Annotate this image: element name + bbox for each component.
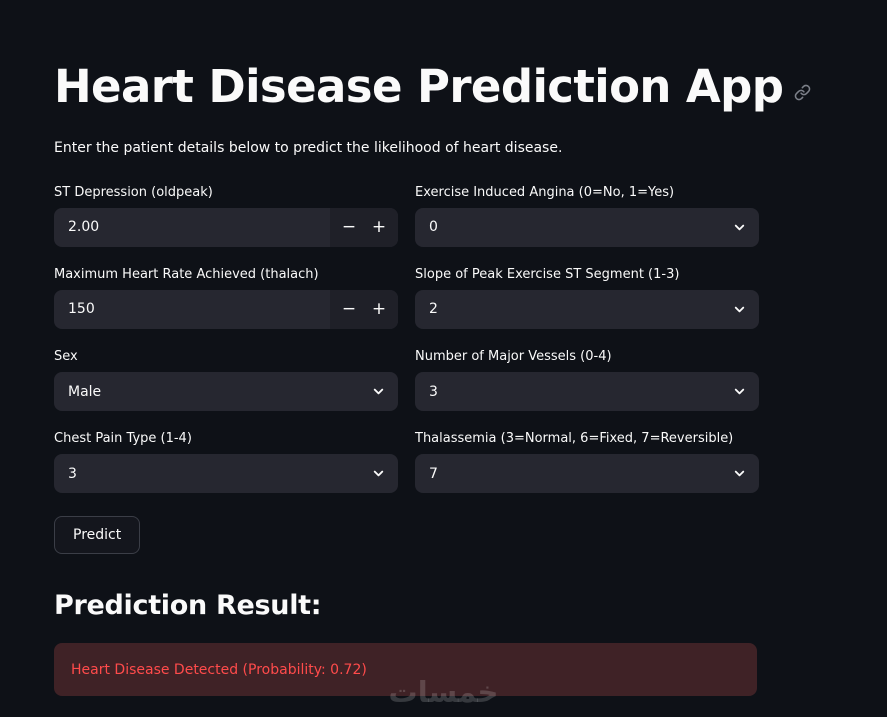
label-sex: Sex: [54, 348, 398, 366]
field-chest-pain-type: Chest Pain Type (1-4) 3: [54, 430, 398, 493]
predict-button[interactable]: Predict: [54, 516, 140, 554]
page-header: Heart Disease Prediction App: [54, 0, 833, 112]
field-number-of-major-vessels: Number of Major Vessels (0-4) 3: [415, 348, 759, 411]
stepper-group-max-heart-rate: − +: [330, 290, 398, 329]
patient-details-form: ST Depression (oldpeak) 2.00 − + Exercis…: [54, 184, 833, 513]
select-exercise-induced-angina[interactable]: 0: [415, 208, 759, 247]
field-max-heart-rate: Maximum Heart Rate Achieved (thalach) 15…: [54, 266, 398, 329]
value-sex: Male: [54, 384, 358, 400]
chevron-down-icon[interactable]: [719, 290, 759, 329]
field-slope-of-peak-exercise-st-segment: Slope of Peak Exercise ST Segment (1-3) …: [415, 266, 759, 329]
chevron-down-icon[interactable]: [719, 372, 759, 411]
prediction-result-heading: Prediction Result:: [54, 590, 833, 621]
label-exercise-induced-angina: Exercise Induced Angina (0=No, 1=Yes): [415, 184, 759, 202]
predict-button-container: Predict: [54, 516, 833, 554]
chevron-down-icon[interactable]: [719, 208, 759, 247]
decrement-button-st-depression[interactable]: −: [334, 208, 364, 247]
app-root: Heart Disease Prediction App Enter the p…: [0, 0, 887, 717]
value-chest-pain-type: 3: [54, 466, 358, 482]
select-thalassemia[interactable]: 7: [415, 454, 759, 493]
label-thalassemia: Thalassemia (3=Normal, 6=Fixed, 7=Revers…: [415, 430, 759, 448]
field-st-depression: ST Depression (oldpeak) 2.00 − +: [54, 184, 398, 247]
chevron-down-icon[interactable]: [358, 454, 398, 493]
link-icon[interactable]: [793, 84, 811, 102]
prediction-result-alert: Heart Disease Detected (Probability: 0.7…: [54, 643, 757, 696]
prediction-result-message: Heart Disease Detected (Probability: 0.7…: [71, 662, 367, 678]
number-input-max-heart-rate[interactable]: 150 − +: [54, 290, 398, 329]
value-st-depression: 2.00: [54, 219, 330, 235]
chevron-down-icon[interactable]: [358, 372, 398, 411]
value-slope-of-peak-exercise-st-segment: 2: [415, 301, 719, 317]
field-thalassemia: Thalassemia (3=Normal, 6=Fixed, 7=Revers…: [415, 430, 759, 493]
value-number-of-major-vessels: 3: [415, 384, 719, 400]
increment-button-st-depression[interactable]: +: [364, 208, 394, 247]
select-slope-of-peak-exercise-st-segment[interactable]: 2: [415, 290, 759, 329]
number-input-st-depression[interactable]: 2.00 − +: [54, 208, 398, 247]
field-sex: Sex Male: [54, 348, 398, 411]
decrement-button-max-heart-rate[interactable]: −: [334, 290, 364, 329]
stepper-group-st-depression: − +: [330, 208, 398, 247]
value-thalassemia: 7: [415, 466, 719, 482]
label-chest-pain-type: Chest Pain Type (1-4): [54, 430, 398, 448]
value-max-heart-rate: 150: [54, 301, 330, 317]
label-max-heart-rate: Maximum Heart Rate Achieved (thalach): [54, 266, 398, 284]
page-title: Heart Disease Prediction App: [54, 62, 783, 112]
select-chest-pain-type[interactable]: 3: [54, 454, 398, 493]
page-subtitle: Enter the patient details below to predi…: [54, 138, 833, 159]
label-slope-of-peak-exercise-st-segment: Slope of Peak Exercise ST Segment (1-3): [415, 266, 759, 284]
label-st-depression: ST Depression (oldpeak): [54, 184, 398, 202]
select-sex[interactable]: Male: [54, 372, 398, 411]
chevron-down-icon[interactable]: [719, 454, 759, 493]
value-exercise-induced-angina: 0: [415, 219, 719, 235]
increment-button-max-heart-rate[interactable]: +: [364, 290, 394, 329]
label-number-of-major-vessels: Number of Major Vessels (0-4): [415, 348, 759, 366]
field-exercise-induced-angina: Exercise Induced Angina (0=No, 1=Yes) 0: [415, 184, 759, 247]
select-number-of-major-vessels[interactable]: 3: [415, 372, 759, 411]
